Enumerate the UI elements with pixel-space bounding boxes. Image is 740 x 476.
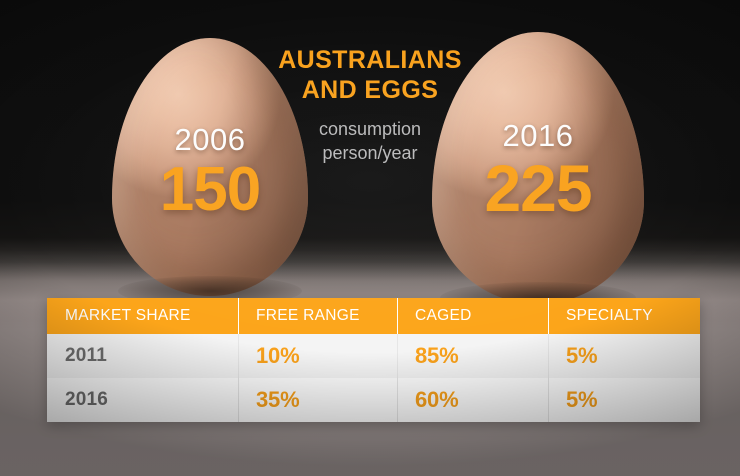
cell-free-range: 10%	[238, 334, 397, 378]
column-header-specialty: SPECIALTY	[548, 298, 700, 334]
cell-year: 2016	[47, 378, 238, 422]
cell-caged: 85%	[397, 334, 548, 378]
page-subtitle-line-2: person/year	[270, 142, 470, 166]
column-header-market-share: MARKET SHARE	[47, 298, 238, 334]
cell-specialty: 5%	[548, 334, 700, 378]
cell-year: 2011	[47, 334, 238, 378]
infographic-canvas: 2006 150 2016 225 AUSTRALIANS AND EGGS c…	[0, 0, 740, 476]
page-subtitle: consumption person/year	[270, 118, 470, 166]
table-row: 2011 10% 85% 5%	[47, 334, 700, 378]
table-header-row: MARKET SHARE FREE RANGE CAGED SPECIALTY	[47, 298, 700, 334]
cell-caged: 60%	[397, 378, 548, 422]
table-row: 2016 35% 60% 5%	[47, 378, 700, 422]
cell-free-range: 35%	[238, 378, 397, 422]
market-share-table: MARKET SHARE FREE RANGE CAGED SPECIALTY …	[47, 298, 700, 422]
page-title: AUSTRALIANS AND EGGS	[270, 46, 470, 105]
page-title-line-1: AUSTRALIANS	[278, 46, 462, 74]
page-title-line-2: AND EGGS	[270, 76, 470, 106]
column-header-caged: CAGED	[397, 298, 548, 334]
table-body: 2011 10% 85% 5% 2016 35% 60% 5%	[47, 334, 700, 422]
column-header-free-range: FREE RANGE	[238, 298, 397, 334]
page-subtitle-line-1: consumption	[319, 119, 421, 139]
cell-specialty: 5%	[548, 378, 700, 422]
